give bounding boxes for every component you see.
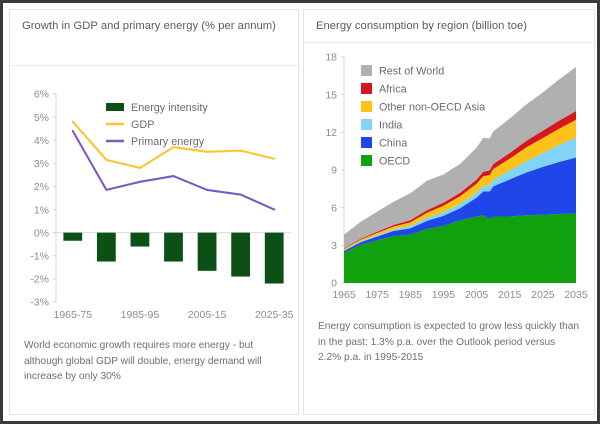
right-x-tick-label: 1975 (365, 289, 389, 301)
bar-energy-intensity (231, 233, 250, 277)
legend-label-rest-of-world: Rest of World (379, 66, 444, 78)
right-y-tick-label: 6 (331, 202, 337, 214)
left-x-tick-label: 1965-75 (54, 309, 93, 321)
right-y-tick-label: 15 (325, 89, 337, 101)
right-y-tick-label: 0 (331, 278, 337, 290)
bar-energy-intensity (131, 233, 150, 247)
legend-label-india: India (379, 120, 402, 132)
legend-swatch-energy-intensity (106, 103, 124, 111)
right-y-tick-label: 3 (331, 240, 337, 252)
energy-area-chart-svg: 0369121518196519751985199520052015202520… (304, 43, 594, 315)
left-y-tick-label: 1% (34, 204, 49, 216)
left-y-tick-label: -3% (30, 297, 49, 309)
left-y-tick-label: 0% (34, 227, 49, 239)
right-panel-caption: Energy consumption is expected to grow l… (304, 315, 594, 376)
bar-energy-intensity (97, 233, 116, 262)
legend-label-china: China (379, 138, 407, 150)
left-y-tick-label: 6% (34, 89, 49, 101)
legend-label-primary-energy: Primary energy (131, 136, 205, 148)
left-y-tick-label: 2% (34, 181, 49, 193)
bar-energy-intensity (164, 233, 183, 262)
right-panel-title: Energy consumption by region (billion to… (304, 10, 594, 43)
right-y-tick-label: 18 (325, 52, 337, 64)
legend-swatch-rest-of-world (361, 65, 372, 76)
right-x-tick-label: 2015 (498, 289, 522, 301)
left-panel-caption: World economic growth requires more ener… (10, 334, 298, 395)
left-x-tick-label: 1985-95 (121, 309, 160, 321)
legend-swatch-china (361, 137, 372, 148)
legend-label-gdp: GDP (131, 119, 154, 131)
legend-swatch-other-non-oecd-asia (361, 101, 372, 112)
left-chart-canvas: 6%5%4%3%2%1%0%-1%-2%-3%1965-751985-95200… (10, 66, 298, 334)
bar-energy-intensity (265, 233, 284, 284)
right-y-tick-label: 12 (325, 127, 337, 139)
growth-chart-svg: 6%5%4%3%2%1%0%-1%-2%-3%1965-751985-95200… (10, 66, 298, 334)
right-x-tick-label: 1965 (332, 289, 356, 301)
left-y-tick-label: 5% (34, 112, 49, 124)
right-x-tick-label: 2035 (564, 289, 588, 301)
legend-swatch-india (361, 119, 372, 130)
left-y-tick-label: -2% (30, 274, 49, 286)
card-growth-gdp-energy: Growth in GDP and primary energy (% per … (9, 9, 299, 415)
left-y-tick-label: -1% (30, 250, 49, 262)
right-y-tick-label: 9 (331, 165, 337, 177)
left-y-tick-label: 4% (34, 135, 49, 147)
card-energy-consumption: Energy consumption by region (billion to… (303, 9, 595, 415)
bar-energy-intensity (198, 233, 217, 271)
legend-swatch-africa (361, 83, 372, 94)
left-panel-title: Growth in GDP and primary energy (% per … (10, 10, 298, 66)
bar-energy-intensity (63, 233, 82, 241)
right-x-tick-label: 1995 (432, 289, 456, 301)
legend-label-energy-intensity: Energy intensity (131, 102, 208, 114)
right-x-tick-label: 2005 (465, 289, 489, 301)
left-y-tick-label: 3% (34, 158, 49, 170)
legend-label-africa: Africa (379, 84, 407, 96)
legend-label-oecd: OECD (379, 156, 410, 168)
left-x-tick-label: 2025-35 (255, 309, 294, 321)
legend-swatch-oecd (361, 155, 372, 166)
legend-label-other-non-oecd-asia: Other non-OECD Asia (379, 102, 485, 114)
left-x-tick-label: 2005-15 (188, 309, 227, 321)
dashboard-root: Growth in GDP and primary energy (% per … (3, 3, 597, 421)
right-x-tick-label: 1985 (399, 289, 423, 301)
right-chart-canvas: 0369121518196519751985199520052015202520… (304, 43, 594, 315)
right-x-tick-label: 2025 (531, 289, 555, 301)
